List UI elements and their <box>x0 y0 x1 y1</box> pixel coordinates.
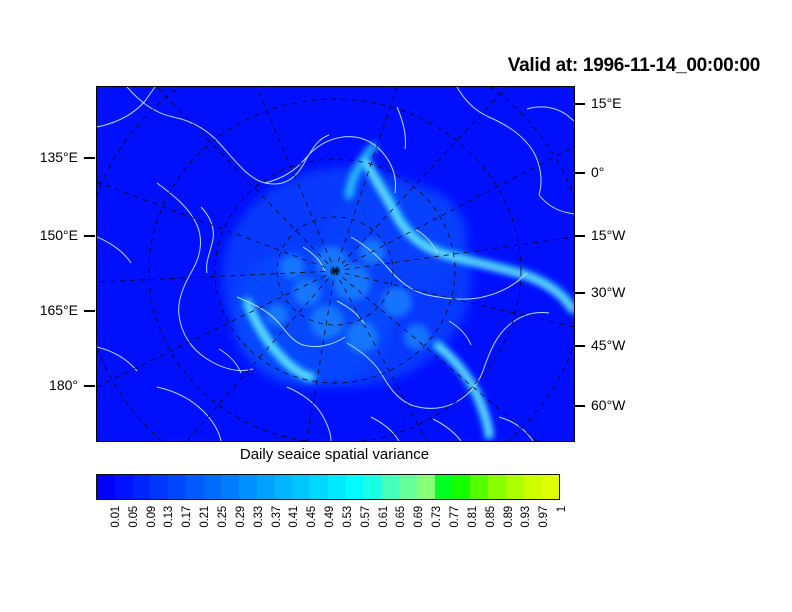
colorbar-cell <box>204 475 222 499</box>
page-title: Valid at: 1996-11-14_00:00:00 <box>508 55 760 77</box>
colorbar-cell <box>328 475 346 499</box>
colorbar-cell <box>168 475 186 499</box>
colorbar-tick-label: 0.89 <box>503 506 515 528</box>
right-axis-tick <box>574 405 585 407</box>
colorbar-tick-label: 0.49 <box>324 506 336 528</box>
colorbar-cell <box>275 475 293 499</box>
colorbar-cell <box>381 475 399 499</box>
colorbar-cell <box>115 475 133 499</box>
colorbar-tick-label: 0.73 <box>431 506 443 528</box>
colorbar-cell <box>417 475 435 499</box>
colorbar-tick-label: 0.65 <box>395 506 407 528</box>
colorbar-cell <box>488 475 506 499</box>
left-axis-label: 165°E <box>40 302 78 318</box>
colorbar-tick-label: 0.85 <box>485 506 497 528</box>
plot-caption: Daily seaice spatial variance <box>96 446 573 463</box>
colorbar-cell <box>221 475 239 499</box>
map-canvas <box>97 87 574 441</box>
colorbar-cell <box>506 475 524 499</box>
right-axis-label: 45°W <box>591 337 625 353</box>
left-axis-tick <box>84 235 95 237</box>
left-axis-label: 180° <box>49 377 78 393</box>
colorbar-tick-label: 0.41 <box>288 506 300 528</box>
colorbar-tick-label: 0.21 <box>199 506 211 528</box>
colorbar-cell <box>292 475 310 499</box>
right-axis-tick <box>574 292 585 294</box>
colorbar-cell <box>239 475 257 499</box>
colorbar-cell <box>310 475 328 499</box>
right-axis-label: 60°W <box>591 397 625 413</box>
colorbar-tick-label: 0.53 <box>342 506 354 528</box>
left-axis-label: 150°E <box>40 227 78 243</box>
left-axis-label: 135°E <box>40 149 78 165</box>
colorbar-cell <box>97 475 115 499</box>
colorbar-cell <box>541 475 559 499</box>
colorbar-cell <box>399 475 417 499</box>
colorbar-cell <box>186 475 204 499</box>
colorbar-cell <box>133 475 151 499</box>
right-axis-label: 15°W <box>591 227 625 243</box>
colorbar-tick-label: 0.05 <box>128 506 140 528</box>
map-plot-area <box>96 86 575 442</box>
colorbar-tick-labels: 0.010.050.090.130.170.210.250.290.330.37… <box>96 504 574 564</box>
right-axis-tick <box>574 235 585 237</box>
colorbar-tick-label: 0.09 <box>146 506 158 528</box>
colorbar-tick-label: 0.57 <box>360 506 372 528</box>
colorbar-cell <box>363 475 381 499</box>
right-axis-tick <box>574 172 585 174</box>
colorbar-tick-label: 0.69 <box>413 506 425 528</box>
colorbar-tick-label: 0.37 <box>271 506 283 528</box>
colorbar-tick-label: 0.93 <box>520 506 532 528</box>
colorbar-cell <box>523 475 541 499</box>
colorbar-tick-label: 0.81 <box>467 506 479 528</box>
right-axis-tick <box>574 103 585 105</box>
colorbar-cell <box>150 475 168 499</box>
right-axis-label: 15°E <box>591 95 622 111</box>
colorbar-tick-label: 0.13 <box>163 506 175 528</box>
right-axis-label: 30°W <box>591 284 625 300</box>
colorbar-tick-label: 0.61 <box>378 506 390 528</box>
right-axis-label: 0° <box>591 164 604 180</box>
colorbar-cell <box>346 475 364 499</box>
colorbar-tick-label: 0.25 <box>217 506 229 528</box>
colorbar-tick-label: 0.33 <box>253 506 265 528</box>
colorbar-cell <box>452 475 470 499</box>
colorbar-tick-label: 0.17 <box>181 506 193 528</box>
left-axis-tick <box>84 310 95 312</box>
colorbar-tick-label: 0.77 <box>449 506 461 528</box>
colorbar-tick-label: 0.29 <box>235 506 247 528</box>
colorbar-tick-label: 0.01 <box>110 506 122 528</box>
colorbar-tick-label: 0.97 <box>538 506 550 528</box>
colorbar-tick-label: 0.45 <box>306 506 318 528</box>
right-axis-tick <box>574 345 585 347</box>
colorbar-tick-label: 1 <box>556 506 568 512</box>
left-axis-tick <box>84 385 95 387</box>
colorbar-cell <box>435 475 453 499</box>
colorbar-cell <box>257 475 275 499</box>
left-axis-tick <box>84 157 95 159</box>
colorbar <box>96 474 560 500</box>
colorbar-cell <box>470 475 488 499</box>
